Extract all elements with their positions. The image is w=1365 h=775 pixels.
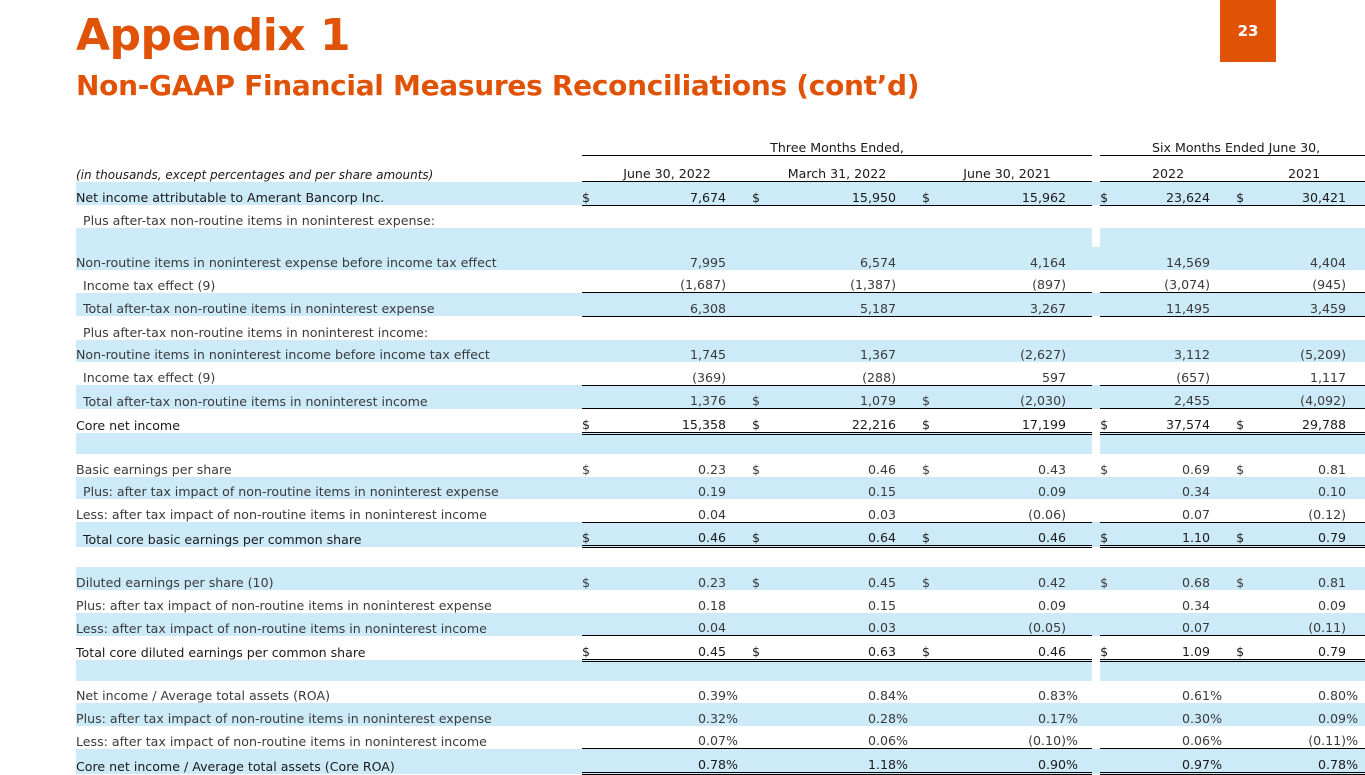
cell-currency-r10-c2: $ — [922, 454, 944, 477]
cell-currency-r4-c4 — [1236, 293, 1258, 317]
cell-value-r12-c2: (0.06) — [944, 499, 1066, 522]
table-row: Plus: after tax impact of non-routine it… — [76, 703, 1365, 726]
spacer-cell — [896, 547, 922, 568]
table-row: Basic earnings per share$0.23$0.46$0.43$… — [76, 454, 1365, 477]
row-label: Less: after tax impact of non-routine it… — [76, 499, 582, 522]
cell-currency-r2-c3 — [1100, 247, 1122, 270]
row-label: Non-routine items in noninterest income … — [76, 340, 582, 363]
cell-percent-r5-c2 — [1066, 316, 1092, 339]
spacer-cell — [726, 433, 752, 454]
cell-value-r13-c0: 0.46 — [604, 522, 726, 547]
spacer-label — [76, 433, 582, 454]
spacer-cell — [1100, 660, 1122, 681]
table-row: Core net income$15,358$22,216$17,199$37,… — [76, 409, 1365, 434]
table-row: Non-routine items in noninterest expense… — [76, 247, 1365, 270]
row-label: Core net income — [76, 409, 582, 434]
cell-value-r21-c1: 1.18 — [774, 749, 896, 774]
cell-percent-r17-c4 — [1346, 636, 1365, 661]
cell-value-r4-c3: 11,495 — [1122, 293, 1210, 317]
cell-value-r2-c3: 14,569 — [1122, 247, 1210, 270]
group-header-six-months: Six Months Ended June 30, — [1100, 133, 1365, 156]
cell-percent-r20-c0: % — [726, 726, 752, 749]
cell-percent-r0-c1 — [896, 182, 922, 206]
cell-value-r13-c4: 0.79 — [1258, 522, 1346, 547]
cell-value-r2-c0: 7,995 — [604, 247, 726, 270]
table-group-header-row: Three Months Ended,Six Months Ended June… — [76, 133, 1365, 156]
cell-currency-r18-c2 — [922, 681, 944, 704]
cell-percent-r13-c1 — [896, 522, 922, 547]
spacer-cell — [1066, 547, 1092, 568]
cell-currency-r8-c1: $ — [752, 385, 774, 409]
spacer-cell — [1236, 433, 1258, 454]
row-label: Plus: after tax impact of non-routine it… — [76, 477, 582, 500]
cell-currency-r0-c1: $ — [752, 182, 774, 206]
cell-percent-r9-c1 — [896, 409, 922, 434]
column-header-3: 2022 — [1100, 156, 1236, 182]
cell-value-r17-c2: 0.46 — [944, 636, 1066, 661]
cell-percent-r4-c0 — [726, 293, 752, 317]
cell-currency-r20-c0 — [582, 726, 604, 749]
cell-currency-r21-c1 — [752, 749, 774, 774]
cell-value-r13-c1: 0.64 — [774, 522, 896, 547]
cell-currency-r5-c1 — [752, 316, 774, 339]
cell-currency-r12-c3 — [1100, 499, 1122, 522]
cell-value-r3-c4: (945) — [1258, 270, 1346, 293]
cell-currency-r15-c3 — [1100, 590, 1122, 613]
cell-percent-r10-c0 — [726, 454, 752, 477]
cell-value-r4-c4: 3,459 — [1258, 293, 1346, 317]
cell-value-r7-c2: 597 — [944, 362, 1066, 385]
cell-currency-r15-c0 — [582, 590, 604, 613]
cell-currency-r19-c1 — [752, 703, 774, 726]
page-number-text: 23 — [1238, 22, 1259, 40]
cell-currency-r9-c2: $ — [922, 409, 944, 434]
cell-currency-r2-c2 — [922, 247, 944, 270]
spacer-cell — [582, 547, 604, 568]
cell-percent-r11-c3 — [1210, 477, 1236, 500]
cell-currency-r7-c0 — [582, 362, 604, 385]
spacer-cell — [1122, 660, 1210, 681]
table-row: Plus: after tax impact of non-routine it… — [76, 590, 1365, 613]
cell-percent-r3-c2 — [1066, 270, 1092, 293]
cell-group-gap — [1092, 703, 1100, 726]
cell-percent-r18-c0: % — [726, 681, 752, 704]
cell-group-gap — [1092, 522, 1100, 547]
cell-currency-r20-c2 — [922, 726, 944, 749]
cell-value-r1-c4 — [1258, 205, 1346, 228]
spacer-label — [76, 660, 582, 681]
cell-currency-r17-c4: $ — [1236, 636, 1258, 661]
cell-value-r21-c3: 0.97 — [1122, 749, 1210, 774]
cell-percent-r12-c3 — [1210, 499, 1236, 522]
cell-value-r20-c3: 0.06 — [1122, 726, 1210, 749]
table-spacer-row — [76, 660, 1365, 681]
non-gaap-reconciliation-table: Three Months Ended,Six Months Ended June… — [76, 133, 1365, 775]
row-label: Less: after tax impact of non-routine it… — [76, 613, 582, 636]
cell-currency-r3-c2 — [922, 270, 944, 293]
cell-percent-r9-c4 — [1346, 409, 1365, 434]
cell-value-r8-c2: (2,030) — [944, 385, 1066, 409]
cell-value-r3-c2: (897) — [944, 270, 1066, 293]
cell-currency-r11-c4 — [1236, 477, 1258, 500]
cell-currency-r0-c2: $ — [922, 182, 944, 206]
table-row: Diluted earnings per share (10)$0.23$0.4… — [76, 567, 1365, 590]
spacer-cell — [944, 660, 1066, 681]
cell-value-r21-c0: 0.78 — [604, 749, 726, 774]
cell-value-r9-c3: 37,574 — [1122, 409, 1210, 434]
cell-percent-r21-c1: % — [896, 749, 922, 774]
cell-value-r20-c4: (0.11) — [1258, 726, 1346, 749]
spacer-cell — [1210, 547, 1236, 568]
spacer-gap — [1092, 660, 1100, 681]
cell-value-r20-c1: 0.06 — [774, 726, 896, 749]
cell-currency-r21-c0 — [582, 749, 604, 774]
spacer-gap — [1092, 547, 1100, 568]
cell-value-r0-c3: 23,624 — [1122, 182, 1210, 206]
spacer-cell — [1346, 433, 1365, 454]
spacer-cell — [726, 660, 752, 681]
cell-currency-r12-c4 — [1236, 499, 1258, 522]
cell-currency-r17-c1: $ — [752, 636, 774, 661]
cell-percent-r19-c2: % — [1066, 703, 1092, 726]
cell-percent-r19-c0: % — [726, 703, 752, 726]
cell-currency-r13-c1: $ — [752, 522, 774, 547]
group-header-three-months: Three Months Ended, — [582, 133, 1092, 156]
spacer-cell — [944, 433, 1066, 454]
cell-percent-r21-c3: % — [1210, 749, 1236, 774]
spacer-cell — [1100, 547, 1122, 568]
cell-percent-r10-c1 — [896, 454, 922, 477]
cell-percent-r7-c4 — [1346, 362, 1365, 385]
cell-percent-r17-c2 — [1066, 636, 1092, 661]
cell-percent-r14-c1 — [896, 567, 922, 590]
cell-value-r11-c4: 0.10 — [1258, 477, 1346, 500]
cell-value-r9-c2: 17,199 — [944, 409, 1066, 434]
cell-value-r12-c1: 0.03 — [774, 499, 896, 522]
cell-value-r19-c1: 0.28 — [774, 703, 896, 726]
table-spacer-row — [76, 433, 1365, 454]
cell-value-r19-c3: 0.30 — [1122, 703, 1210, 726]
cell-value-r0-c4: 30,421 — [1258, 182, 1346, 206]
cell-group-gap — [1092, 567, 1100, 590]
cell-currency-r4-c3 — [1100, 293, 1122, 317]
spacer-cell — [582, 228, 604, 247]
cell-currency-r16-c0 — [582, 613, 604, 636]
cell-currency-r20-c3 — [1100, 726, 1122, 749]
cell-value-r0-c2: 15,962 — [944, 182, 1066, 206]
cell-value-r11-c3: 0.34 — [1122, 477, 1210, 500]
cell-currency-r0-c3: $ — [1100, 182, 1122, 206]
cell-currency-r14-c4: $ — [1236, 567, 1258, 590]
cell-currency-r8-c0 — [582, 385, 604, 409]
cell-value-r18-c3: 0.61 — [1122, 681, 1210, 704]
title-block: Appendix 1 Non-GAAP Financial Measures R… — [76, 14, 919, 100]
cell-value-r6-c0: 1,745 — [604, 340, 726, 363]
cell-currency-r20-c4 — [1236, 726, 1258, 749]
cell-value-r10-c1: 0.46 — [774, 454, 896, 477]
column-header-gap — [1092, 156, 1100, 182]
spacer-cell — [1236, 660, 1258, 681]
cell-percent-r21-c0: % — [726, 749, 752, 774]
group-header-spacer — [76, 133, 582, 156]
cell-percent-r5-c4 — [1346, 316, 1365, 339]
cell-value-r3-c0: (1,687) — [604, 270, 726, 293]
cell-percent-r12-c0 — [726, 499, 752, 522]
spacer-cell — [1258, 547, 1346, 568]
cell-percent-r0-c3 — [1210, 182, 1236, 206]
cell-currency-r7-c3 — [1100, 362, 1122, 385]
cell-currency-r7-c1 — [752, 362, 774, 385]
spacer-cell — [1100, 433, 1122, 454]
cell-currency-r6-c0 — [582, 340, 604, 363]
cell-percent-r11-c0 — [726, 477, 752, 500]
cell-currency-r4-c1 — [752, 293, 774, 317]
spacer-cell — [582, 433, 604, 454]
cell-group-gap — [1092, 270, 1100, 293]
cell-currency-r1-c4 — [1236, 205, 1258, 228]
cell-value-r0-c0: 7,674 — [604, 182, 726, 206]
cell-percent-r0-c2 — [1066, 182, 1092, 206]
units-note: (in thousands, except percentages and pe… — [76, 156, 582, 182]
cell-currency-r9-c1: $ — [752, 409, 774, 434]
spacer-cell — [604, 547, 726, 568]
cell-percent-r17-c3 — [1210, 636, 1236, 661]
cell-currency-r5-c3 — [1100, 316, 1122, 339]
spacer-cell — [896, 433, 922, 454]
spacer-cell — [1066, 433, 1092, 454]
cell-value-r17-c4: 0.79 — [1258, 636, 1346, 661]
cell-currency-r3-c4 — [1236, 270, 1258, 293]
cell-value-r2-c2: 4,164 — [944, 247, 1066, 270]
spacer-cell — [1258, 228, 1346, 247]
cell-value-r2-c4: 4,404 — [1258, 247, 1346, 270]
cell-percent-r1-c2 — [1066, 205, 1092, 228]
cell-value-r18-c4: 0.80 — [1258, 681, 1346, 704]
cell-percent-r8-c3 — [1210, 385, 1236, 409]
table-row: Plus after-tax non-routine items in noni… — [76, 316, 1365, 339]
cell-percent-r5-c1 — [896, 316, 922, 339]
cell-value-r7-c1: (288) — [774, 362, 896, 385]
column-header-1: March 31, 2022 — [752, 156, 922, 182]
cell-value-r5-c2 — [944, 316, 1066, 339]
spacer-cell — [944, 228, 1066, 247]
spacer-cell — [604, 228, 726, 247]
cell-currency-r1-c1 — [752, 205, 774, 228]
cell-currency-r14-c3: $ — [1100, 567, 1122, 590]
cell-percent-r20-c3: % — [1210, 726, 1236, 749]
cell-currency-r19-c4 — [1236, 703, 1258, 726]
cell-percent-r0-c4 — [1346, 182, 1365, 206]
cell-currency-r9-c4: $ — [1236, 409, 1258, 434]
cell-percent-r1-c0 — [726, 205, 752, 228]
cell-value-r4-c2: 3,267 — [944, 293, 1066, 317]
group-header-gap — [1092, 133, 1100, 156]
cell-value-r3-c3: (3,074) — [1122, 270, 1210, 293]
cell-currency-r8-c3 — [1100, 385, 1122, 409]
cell-percent-r17-c1 — [896, 636, 922, 661]
spacer-cell — [896, 228, 922, 247]
cell-percent-r12-c1 — [896, 499, 922, 522]
spacer-cell — [1210, 228, 1236, 247]
row-label: Net income / Average total assets (ROA) — [76, 681, 582, 704]
cell-currency-r19-c3 — [1100, 703, 1122, 726]
cell-percent-r20-c4: % — [1346, 726, 1365, 749]
cell-percent-r3-c1 — [896, 270, 922, 293]
row-label: Diluted earnings per share (10) — [76, 567, 582, 590]
cell-value-r6-c4: (5,209) — [1258, 340, 1346, 363]
cell-currency-r11-c2 — [922, 477, 944, 500]
column-header-2: June 30, 2021 — [922, 156, 1092, 182]
cell-percent-r5-c0 — [726, 316, 752, 339]
table-body: Three Months Ended,Six Months Ended June… — [76, 133, 1365, 774]
cell-percent-r12-c2 — [1066, 499, 1092, 522]
spacer-cell — [604, 660, 726, 681]
spacer-cell — [1122, 433, 1210, 454]
column-header-4: 2021 — [1236, 156, 1365, 182]
cell-currency-r6-c3 — [1100, 340, 1122, 363]
cell-percent-r2-c0 — [726, 247, 752, 270]
cell-percent-r7-c1 — [896, 362, 922, 385]
cell-percent-r4-c4 — [1346, 293, 1365, 317]
cell-percent-r13-c2 — [1066, 522, 1092, 547]
cell-currency-r13-c0: $ — [582, 522, 604, 547]
cell-percent-r18-c1: % — [896, 681, 922, 704]
cell-currency-r3-c1 — [752, 270, 774, 293]
row-label: Income tax effect (9) — [76, 270, 582, 293]
cell-currency-r8-c2: $ — [922, 385, 944, 409]
cell-currency-r0-c0: $ — [582, 182, 604, 206]
cell-currency-r1-c0 — [582, 205, 604, 228]
table-row: Net income / Average total assets (ROA)0… — [76, 681, 1365, 704]
cell-percent-r9-c2 — [1066, 409, 1092, 434]
cell-percent-r3-c3 — [1210, 270, 1236, 293]
cell-group-gap — [1092, 362, 1100, 385]
cell-percent-r6-c0 — [726, 340, 752, 363]
spacer-cell — [1210, 660, 1236, 681]
cell-value-r12-c3: 0.07 — [1122, 499, 1210, 522]
cell-value-r16-c2: (0.05) — [944, 613, 1066, 636]
cell-percent-r10-c4 — [1346, 454, 1365, 477]
cell-value-r14-c4: 0.81 — [1258, 567, 1346, 590]
cell-percent-r16-c3 — [1210, 613, 1236, 636]
cell-value-r20-c0: 0.07 — [604, 726, 726, 749]
cell-currency-r2-c0 — [582, 247, 604, 270]
cell-percent-r16-c0 — [726, 613, 752, 636]
cell-percent-r6-c3 — [1210, 340, 1236, 363]
table-row: Income tax effect (9)(1,687)(1,387)(897)… — [76, 270, 1365, 293]
page-number-badge: 23 — [1220, 0, 1276, 62]
row-label: Income tax effect (9) — [76, 362, 582, 385]
cell-value-r21-c4: 0.78 — [1258, 749, 1346, 774]
cell-value-r15-c1: 0.15 — [774, 590, 896, 613]
cell-currency-r15-c4 — [1236, 590, 1258, 613]
cell-currency-r5-c0 — [582, 316, 604, 339]
cell-group-gap — [1092, 316, 1100, 339]
cell-value-r3-c1: (1,387) — [774, 270, 896, 293]
cell-percent-r7-c2 — [1066, 362, 1092, 385]
cell-percent-r3-c4 — [1346, 270, 1365, 293]
cell-currency-r16-c4 — [1236, 613, 1258, 636]
cell-currency-r18-c0 — [582, 681, 604, 704]
spacer-cell — [582, 660, 604, 681]
cell-percent-r4-c2 — [1066, 293, 1092, 317]
cell-value-r9-c0: 15,358 — [604, 409, 726, 434]
cell-value-r15-c4: 0.09 — [1258, 590, 1346, 613]
spacer-cell — [752, 228, 774, 247]
spacer-cell — [774, 660, 896, 681]
cell-value-r8-c4: (4,092) — [1258, 385, 1346, 409]
cell-value-r7-c3: (657) — [1122, 362, 1210, 385]
table-spacer-row — [76, 228, 1365, 247]
cell-value-r15-c3: 0.34 — [1122, 590, 1210, 613]
cell-currency-r21-c4 — [1236, 749, 1258, 774]
table-row: Plus after-tax non-routine items in noni… — [76, 205, 1365, 228]
spacer-cell — [922, 433, 944, 454]
column-header-0: June 30, 2022 — [582, 156, 752, 182]
cell-value-r5-c4 — [1258, 316, 1346, 339]
cell-value-r5-c3 — [1122, 316, 1210, 339]
cell-value-r17-c1: 0.63 — [774, 636, 896, 661]
cell-value-r1-c1 — [774, 205, 896, 228]
cell-value-r18-c1: 0.84 — [774, 681, 896, 704]
cell-value-r8-c1: 1,079 — [774, 385, 896, 409]
cell-currency-r14-c1: $ — [752, 567, 774, 590]
cell-currency-r2-c1 — [752, 247, 774, 270]
cell-currency-r19-c0 — [582, 703, 604, 726]
cell-currency-r13-c3: $ — [1100, 522, 1122, 547]
cell-currency-r18-c3 — [1100, 681, 1122, 704]
cell-percent-r19-c4: % — [1346, 703, 1365, 726]
cell-currency-r12-c0 — [582, 499, 604, 522]
cell-group-gap — [1092, 726, 1100, 749]
cell-percent-r7-c3 — [1210, 362, 1236, 385]
cell-value-r9-c1: 22,216 — [774, 409, 896, 434]
cell-value-r7-c4: 1,117 — [1258, 362, 1346, 385]
cell-percent-r2-c4 — [1346, 247, 1365, 270]
cell-group-gap — [1092, 182, 1100, 206]
cell-group-gap — [1092, 454, 1100, 477]
cell-percent-r21-c4: % — [1346, 749, 1365, 774]
cell-currency-r16-c2 — [922, 613, 944, 636]
cell-value-r10-c3: 0.69 — [1122, 454, 1210, 477]
cell-percent-r13-c4 — [1346, 522, 1365, 547]
cell-value-r13-c2: 0.46 — [944, 522, 1066, 547]
cell-currency-r10-c3: $ — [1100, 454, 1122, 477]
table-row: Core net income / Average total assets (… — [76, 749, 1365, 774]
cell-percent-r20-c2: % — [1066, 726, 1092, 749]
cell-value-r16-c0: 0.04 — [604, 613, 726, 636]
cell-group-gap — [1092, 247, 1100, 270]
cell-value-r10-c2: 0.43 — [944, 454, 1066, 477]
cell-value-r16-c1: 0.03 — [774, 613, 896, 636]
cell-percent-r21-c2: % — [1066, 749, 1092, 774]
cell-percent-r10-c3 — [1210, 454, 1236, 477]
cell-value-r19-c2: 0.17 — [944, 703, 1066, 726]
cell-currency-r17-c3: $ — [1100, 636, 1122, 661]
cell-value-r1-c2 — [944, 205, 1066, 228]
cell-percent-r16-c2 — [1066, 613, 1092, 636]
table-column-header-row: (in thousands, except percentages and pe… — [76, 156, 1365, 182]
cell-percent-r7-c0 — [726, 362, 752, 385]
cell-percent-r1-c3 — [1210, 205, 1236, 228]
cell-value-r16-c4: (0.11) — [1258, 613, 1346, 636]
spacer-cell — [726, 547, 752, 568]
cell-percent-r8-c4 — [1346, 385, 1365, 409]
cell-percent-r10-c2 — [1066, 454, 1092, 477]
cell-group-gap — [1092, 590, 1100, 613]
cell-value-r17-c0: 0.45 — [604, 636, 726, 661]
cell-percent-r5-c3 — [1210, 316, 1236, 339]
